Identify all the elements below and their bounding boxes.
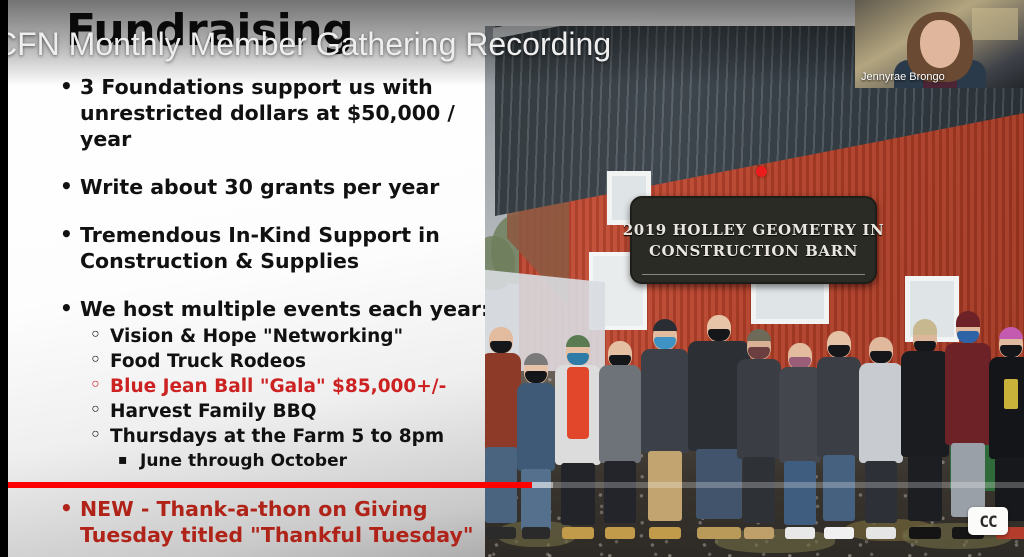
progress-bar[interactable] xyxy=(0,482,1024,488)
laser-pointer-dot xyxy=(756,166,767,177)
person xyxy=(819,327,859,539)
person xyxy=(781,333,819,539)
bullet-item-highlight: Blue Jean Ball "Gala" $85,000+/- xyxy=(54,374,494,399)
participant-name-label: Jennyrae Brongo xyxy=(861,71,945,83)
sign-rule xyxy=(642,274,865,275)
closed-captions-button[interactable]: CC xyxy=(968,507,1008,535)
left-letterbox-bar xyxy=(0,0,8,557)
barn-sign: 2019 HOLLEY GEOMETRY IN CONSTRUCTION BAR… xyxy=(630,196,877,284)
sign-line-1: 2019 HOLLEY GEOMETRY IN xyxy=(623,221,885,239)
slide-photo: 2019 HOLLEY GEOMETRY IN CONSTRUCTION BAR… xyxy=(485,26,1024,557)
person xyxy=(739,329,779,539)
person xyxy=(485,327,519,539)
bullet-item: Thursdays at the Farm 5 to 8pm xyxy=(54,424,494,449)
person xyxy=(903,323,947,539)
webcam-tile[interactable]: Jennyrae Brongo xyxy=(855,0,1024,88)
cc-label: CC xyxy=(979,512,996,531)
bullet-item-new: NEW - Thank-a-thon on Giving Tuesday tit… xyxy=(54,496,494,548)
progress-played xyxy=(0,482,532,488)
bullet-item: Tremendous In-Kind Support in Constructi… xyxy=(54,222,494,274)
bullet-item: Vision & Hope "Networking" xyxy=(54,324,494,349)
person xyxy=(557,333,599,539)
bullet-item: We host multiple events each year: xyxy=(54,296,494,322)
person xyxy=(601,331,639,539)
video-player[interactable]: Fundraising 3 Foundations support us wit… xyxy=(0,0,1024,557)
bullet-item: June through October xyxy=(54,449,494,474)
bullet-item: Harvest Family BBQ xyxy=(54,399,494,424)
person xyxy=(519,343,553,539)
video-title: CFN Monthly Member Gathering Recording xyxy=(0,26,611,63)
bullet-item: Write about 30 grants per year xyxy=(54,174,494,200)
person xyxy=(947,317,989,539)
bullet-item: 3 Foundations support us with unrestrict… xyxy=(54,74,494,152)
sign-line-2: CONSTRUCTION BARN xyxy=(649,242,858,260)
person xyxy=(643,323,687,539)
webcam-face xyxy=(920,20,960,68)
webcam-window xyxy=(972,8,1018,40)
bullet-item: Food Truck Rodeos xyxy=(54,349,494,374)
person xyxy=(861,331,901,539)
